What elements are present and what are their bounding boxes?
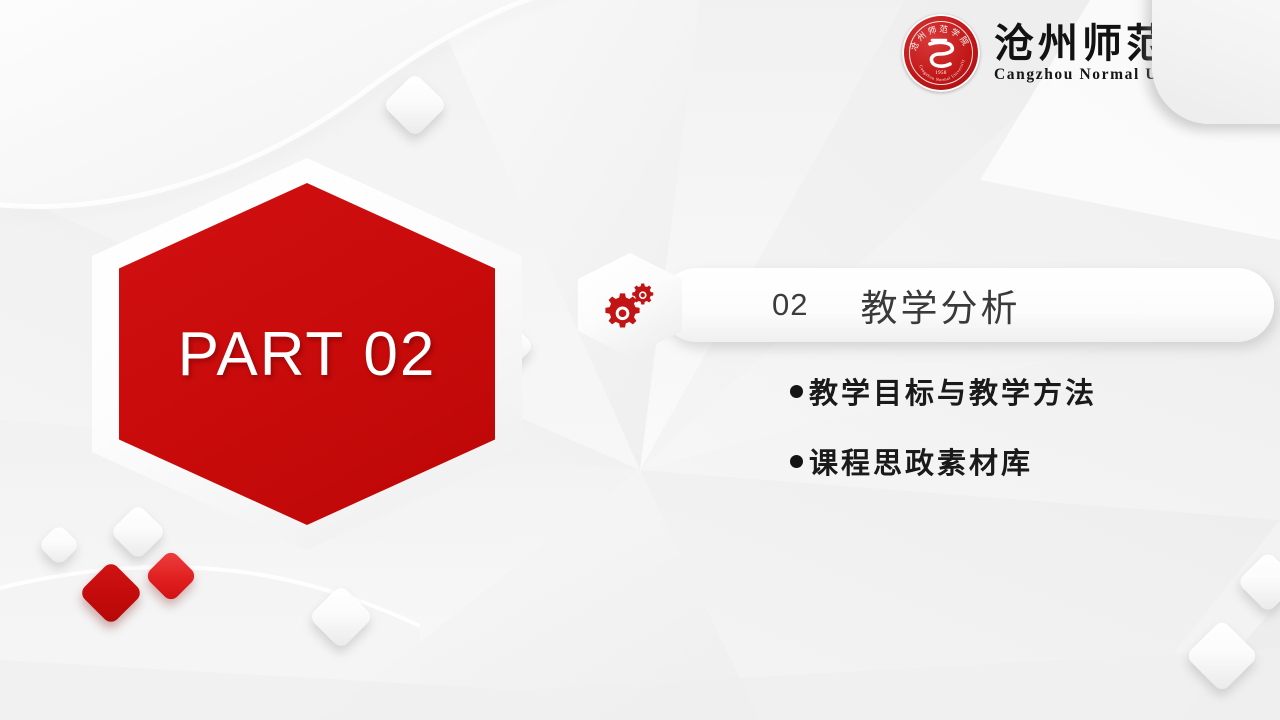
section-title: 教学分析 [860, 278, 1020, 332]
section-number: 02 [772, 287, 808, 323]
list-item: 教学目标与教学方法 [790, 370, 1220, 412]
university-seal-icon: 沧州师范学院 Cangzhou Normal University 1958 [902, 14, 980, 92]
list-item-label: 教学目标与教学方法 [809, 370, 1097, 412]
section-title-row: 02 教学分析 [578, 252, 1274, 358]
list-item: 课程思政素材库 [790, 440, 1220, 482]
agenda-list: 教学目标与教学方法 课程思政素材库 [790, 370, 1220, 510]
section-badge-label: PART 02 [178, 319, 437, 390]
corner-overlay-shape [1152, 0, 1280, 124]
bullet-dot-icon [790, 455, 803, 468]
gears-icon-badge [578, 253, 682, 357]
presentation-slide: PART 02 02 教学分析 [0, 0, 1280, 720]
list-item-label: 课程思政素材库 [809, 440, 1033, 482]
bullet-dot-icon [790, 385, 803, 398]
svg-text:1958: 1958 [935, 71, 947, 76]
svg-text:沧州师范学院: 沧州师范学院 [908, 24, 972, 53]
gears-icon [603, 280, 657, 330]
section-badge: PART 02 [92, 158, 522, 550]
section-title-pill: 02 教学分析 [660, 268, 1274, 342]
seal-artwork: 沧州师范学院 Cangzhou Normal University 1958 [902, 14, 980, 92]
